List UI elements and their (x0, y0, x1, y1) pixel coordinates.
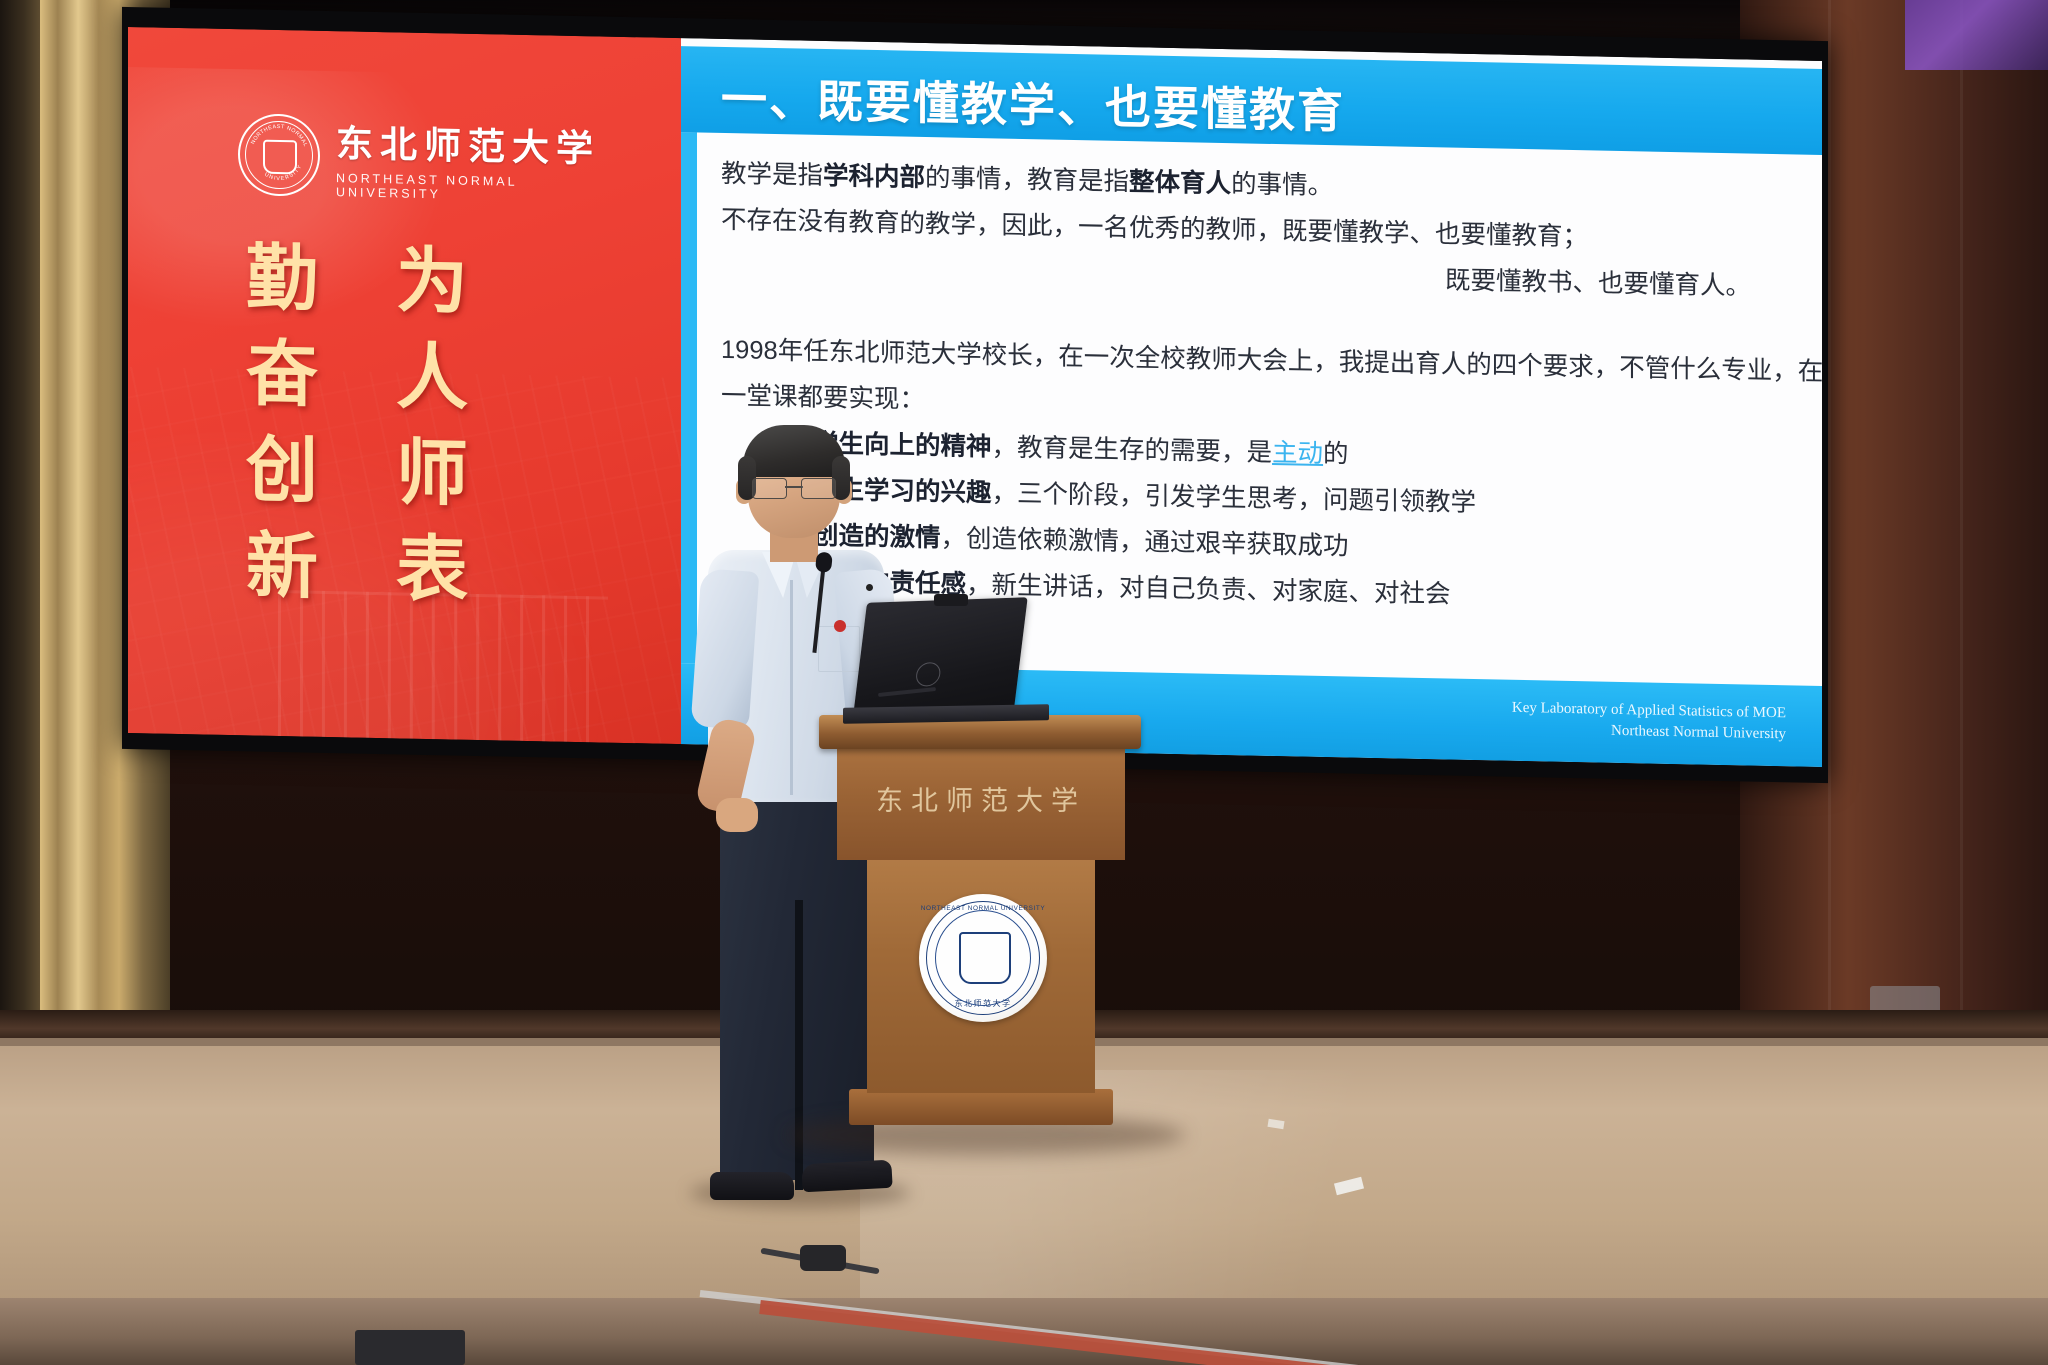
bullet-text: ，新生讲话，对自己负责、对家庭、对社会 (966, 571, 1451, 609)
bullet-text: 的 (1323, 440, 1349, 469)
university-motto: 勤 奋 创 新 为 人 师 表 (246, 239, 666, 613)
motto-column-2: 为 人 师 表 (396, 242, 468, 609)
university-logo: NORTHEAST NORMAL UNIVERSITY 东北师范大学 NORTH… (238, 99, 618, 217)
university-seal-icon: NORTHEAST NORMAL UNIVERSITY (238, 113, 320, 197)
laptop-brand-logo (915, 662, 942, 687)
cable-connector (800, 1245, 846, 1271)
wall-seam (1828, 0, 1831, 1010)
crest-ring-text-bottom: 东北师范大学 (919, 998, 1047, 1009)
motto-char: 表 (396, 530, 468, 609)
lectern: NORTHEAST NORMAL UNIVERSITY 东北师范大学 东北师范大… (845, 715, 1115, 1245)
bullet-link[interactable]: 主动 (1272, 439, 1323, 468)
laptop-icon[interactable] (852, 597, 1027, 723)
bullet-text: ，创造依赖激情，通过艰辛获取成功 (941, 524, 1349, 560)
shirt-pocket (818, 626, 860, 672)
svg-text:NORTHEAST NORMAL: NORTHEAST NORMAL (250, 123, 308, 147)
university-name-en: NORTHEAST NORMAL UNIVERSITY (336, 171, 618, 205)
campus-building-graphic (278, 590, 608, 750)
svg-text:UNIVERSITY: UNIVERSITY (263, 163, 303, 183)
motto-char: 创 (246, 431, 318, 510)
leg-separation (795, 900, 803, 1190)
curtain-shadow-edge (0, 0, 40, 1075)
slide-footer-text: Key Laboratory of Applied Statistics of … (1512, 698, 1786, 746)
glasses-lens-left (752, 478, 787, 499)
motto-char: 勤 (246, 239, 318, 318)
speaker-shoe-left (710, 1172, 794, 1200)
bullet-text: ，三个阶段，引发学生思考，问题引领教学 (992, 479, 1477, 517)
floor-equipment-box (355, 1330, 465, 1365)
shirt-placket (790, 580, 793, 795)
footer-line-2: Northeast Normal University (1512, 719, 1786, 746)
university-crest-icon: NORTHEAST NORMAL UNIVERSITY 东北师范大学 (919, 894, 1047, 1022)
text-run: 的事情。 (1231, 170, 1333, 200)
slide-red-panel: NORTHEAST NORMAL UNIVERSITY 东北师范大学 NORTH… (128, 27, 681, 744)
speaker-hair (743, 425, 845, 477)
motto-char: 新 (246, 527, 318, 606)
speaker-hand-left (716, 798, 758, 832)
text-run-bold: 学科内部 (823, 162, 925, 192)
lecture-hall-scene: NORTHEAST NORMAL UNIVERSITY 东北师范大学 NORTH… (0, 0, 2048, 1365)
text-run: 的事情，教育是指 (925, 164, 1129, 196)
lectern-front-panel: 东北师范大学 (837, 745, 1125, 860)
slide-title: 一、既要懂教学、也要懂教育 (721, 63, 1345, 142)
crest-ring-text-top: NORTHEAST NORMAL UNIVERSITY (919, 905, 1047, 912)
crest-center-mark (959, 932, 1011, 984)
speaker-glasses (752, 478, 836, 498)
motto-char: 为 (396, 242, 468, 321)
glasses-lens-right (801, 478, 836, 499)
motto-column-1: 勤 奋 创 新 (246, 239, 318, 606)
text-run: 教学是指 (721, 160, 823, 190)
motto-char: 师 (396, 434, 468, 513)
purple-light-panel (1905, 0, 2048, 70)
motto-char: 人 (396, 338, 468, 417)
seal-ring-text: NORTHEAST NORMAL UNIVERSITY (240, 115, 318, 195)
university-name-cn: 东北师范大学 (336, 113, 618, 173)
text-run-bold: 整体育人 (1129, 168, 1231, 198)
lectern-front-text: 东北师范大学 (837, 779, 1125, 818)
speaker-sleeve-left (691, 568, 760, 730)
lectern-base (849, 1089, 1113, 1125)
lapel-microphone-icon (866, 584, 873, 591)
wall-seam (1960, 0, 1963, 1010)
lapel-badge-icon (834, 620, 846, 632)
laptop-camera-notch (934, 594, 968, 606)
bullet-text: ，教育是生存的需要，是 (992, 433, 1273, 467)
lectern-body: NORTHEAST NORMAL UNIVERSITY 东北师范大学 (867, 858, 1095, 1093)
motto-char: 奋 (246, 335, 318, 414)
